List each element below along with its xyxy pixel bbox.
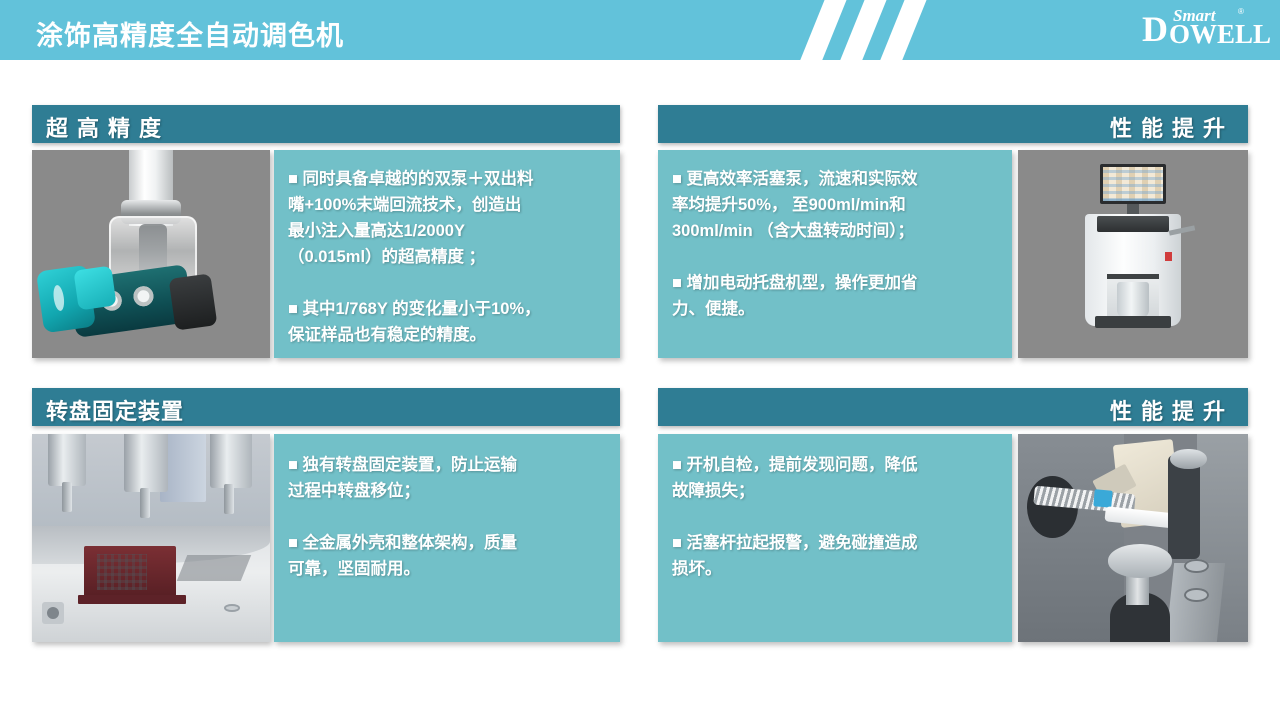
slide-root: 涂饰高精度全自动调色机 D Smart ® OWELL 超高精度 [0,0,1280,720]
brand-logo: D Smart ® OWELL [1126,7,1258,53]
bullet-line: ■ 活塞杆拉起报警，避免碰撞造成 [672,530,1002,556]
image-turntable-bracket-cad [32,434,270,642]
text-block-ultra-precision: ■ 同时具备卓越的的双泵＋双出料 嘴+100%末端回流技术，创造出 最小注入量高… [274,150,620,358]
pump-motor-part [169,273,218,330]
pump-knob-part [73,266,116,311]
bullet-line: （0.015ml）的超高精度 ； [288,244,608,270]
bullet-line: 故障损失； [672,478,1002,504]
piston-housing-part [1018,434,1124,642]
cad-render-art [32,434,270,642]
bullet-line: ■ 其中1/768Y 的变化量小于10%， [288,296,608,322]
cad-bolt-part [42,602,64,624]
piston-disc-part [1108,544,1172,577]
machine-screen-ui-part [1103,167,1163,201]
text-block-performance-upgrade-selfcheck: ■ 开机自检，提前发现问题，降低 故障损失； ■ 活塞杆拉起报警，避免碰撞造成 … [658,434,1012,642]
machine-emergency-button-part [1165,252,1172,261]
section-title: 性能提升 [1110,394,1234,426]
pump-port-part [132,285,155,308]
cad-nozzle-part [224,484,234,514]
bullet-line: ■ 开机自检，提前发现问题，降低 [672,452,1002,478]
piston-cap-part [1170,449,1207,470]
page-header-banner: 涂饰高精度全自动调色机 D Smart ® OWELL [0,0,1280,60]
piston-rail-part [1166,563,1225,642]
cad-dispenser-part [48,434,86,486]
section-title: 性能提升 [1110,111,1234,143]
bullet-line: 嘴+100%末端回流技术，创造出 [288,192,608,218]
bullet-line: ■ 更高效率活塞泵，流速和实际效 [672,166,1002,192]
logo-wordmark: OWELL [1169,21,1271,48]
bullet-line: 过程中转盘移位； [288,478,608,504]
machine-top-panel-part [1097,216,1169,232]
section-header-performance-upgrade-pump: 性能提升 [658,105,1248,143]
section-title: 超高精度 [46,111,170,143]
piston-blue-collar-part [1093,489,1113,507]
machine-monitor-part [1100,164,1166,204]
piston-dark-column-part [1168,455,1200,559]
bullet-line: 损坏。 [672,556,1002,582]
stripe-icon [795,0,850,60]
bullet-line: 可靠，坚固耐用。 [288,556,608,582]
stripe-icon [875,0,930,60]
text-block-performance-upgrade-pump: ■ 更高效率活塞泵，流速和实际效 率均提升50%， 至900ml/min和 30… [658,150,1012,358]
pump-render-art [32,150,270,358]
bullet-line: 最小注入量高达1/2000Y [288,218,608,244]
bullet-line: 保证样品也有稳定的精度。 [288,322,608,348]
cad-red-bracket-part [84,546,176,598]
cad-dispenser-part [124,434,168,492]
logo-letter-d: D [1142,11,1168,47]
piston-photo-art [1018,434,1248,642]
image-tinting-machine-photo [1018,150,1248,358]
text-block-turntable-fixing-device: ■ 独有转盘固定装置，防止运输 过程中转盘移位； ■ 全金属外壳和整体架构，质量… [274,434,620,642]
cad-shadow-part [177,555,252,581]
section-title: 转盘固定装置 [46,394,184,426]
cad-nozzle-part [62,482,72,512]
image-pump-cutaway-render [32,150,270,358]
image-piston-rod-photo [1018,434,1248,642]
bullet-line: 300ml/min （含大盘转动时间）； [672,218,1002,244]
bullet-line: 率均提升50%， 至900ml/min和 [672,192,1002,218]
stripe-icon [835,0,890,60]
bullet-line: ■ 增加电动托盘机型，操作更加省 [672,270,1002,296]
diagonal-stripes-decoration [790,0,1040,60]
machine-paint-can-part [1117,282,1149,318]
section-header-ultra-precision: 超高精度 [32,105,620,143]
bullet-line: ■ 同时具备卓越的的双泵＋双出料 [288,166,608,192]
section-header-turntable-fixing-device: 转盘固定装置 [32,388,620,426]
cad-dispenser-part [210,434,252,488]
machine-base-part [1095,316,1171,328]
bullet-line: ■ 独有转盘固定装置，防止运输 [288,452,608,478]
section-header-performance-upgrade-selfcheck: 性能提升 [658,388,1248,426]
cad-nozzle-part [140,488,150,518]
bullet-line: 力、便捷。 [672,296,1002,322]
page-title: 涂饰高精度全自动调色机 [36,14,344,53]
trademark-icon: ® [1238,8,1244,16]
bullet-line: ■ 全金属外壳和整体架构，质量 [288,530,608,556]
cad-bolt-part [224,604,240,612]
machine-photo-art [1018,150,1248,358]
